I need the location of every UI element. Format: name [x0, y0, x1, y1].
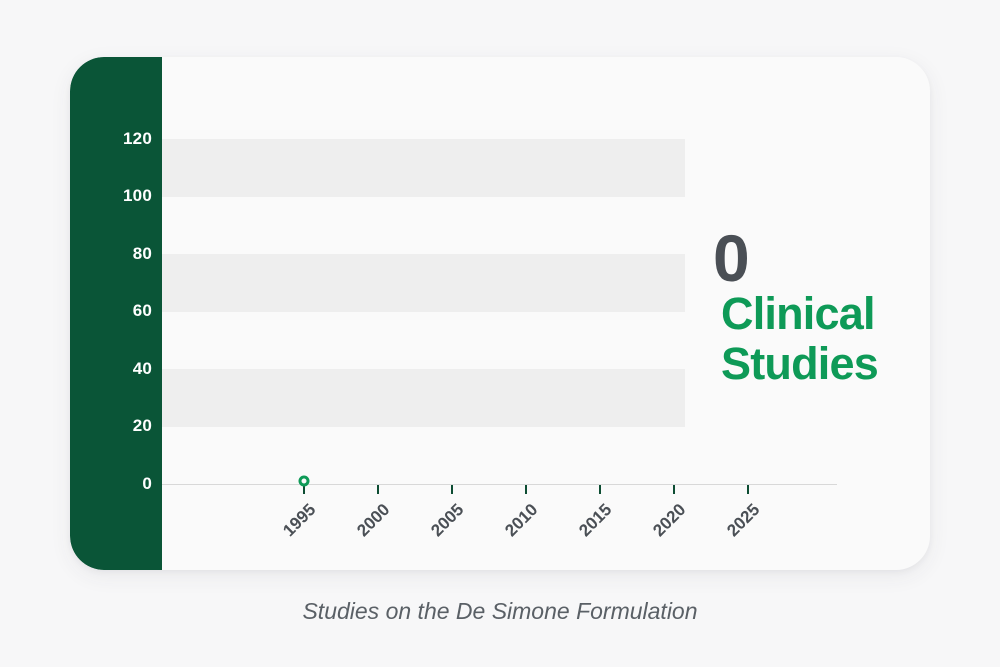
y-tick-label-60: 60 [82, 301, 152, 321]
x-tick-label-2020: 2020 [634, 500, 691, 557]
x-tick-label-1995: 1995 [264, 500, 321, 557]
annotation-label-line-2: Studies [721, 339, 930, 389]
x-tick-label-2010: 2010 [486, 500, 543, 557]
y-tick-label-40: 40 [82, 359, 152, 379]
x-tick-mark-2020 [673, 485, 675, 494]
grid-band [162, 254, 685, 312]
x-tick-mark-2025 [747, 485, 749, 494]
annotation-value: 0 [713, 227, 930, 289]
x-tick-mark-2005 [451, 485, 453, 494]
chart-card: 120 100 80 60 40 20 0 1995 2000 2005 201… [70, 57, 930, 570]
x-tick-mark-2000 [377, 485, 379, 494]
y-tick-label-100: 100 [82, 186, 152, 206]
grid-band [162, 369, 685, 427]
x-tick-label-2000: 2000 [338, 500, 395, 557]
x-tick-label-2015: 2015 [560, 500, 617, 557]
y-tick-label-20: 20 [82, 416, 152, 436]
x-tick-label-2025: 2025 [708, 500, 765, 557]
chart-caption: Studies on the De Simone Formulation [0, 598, 1000, 625]
y-tick-label-0: 0 [82, 474, 152, 494]
annotation-label-line-1: Clinical [721, 289, 930, 339]
y-axis-panel: 120 100 80 60 40 20 0 [70, 57, 162, 570]
x-tick-mark-2010 [525, 485, 527, 494]
grid-band [162, 139, 685, 197]
y-tick-label-120: 120 [82, 129, 152, 149]
x-tick-mark-2015 [599, 485, 601, 494]
data-point-marker-1995[interactable] [299, 476, 310, 487]
x-tick-label-2005: 2005 [412, 500, 469, 557]
y-tick-label-80: 80 [82, 244, 152, 264]
annotation-callout: 0 Clinical Studies [713, 227, 930, 389]
x-axis-line [162, 484, 837, 485]
